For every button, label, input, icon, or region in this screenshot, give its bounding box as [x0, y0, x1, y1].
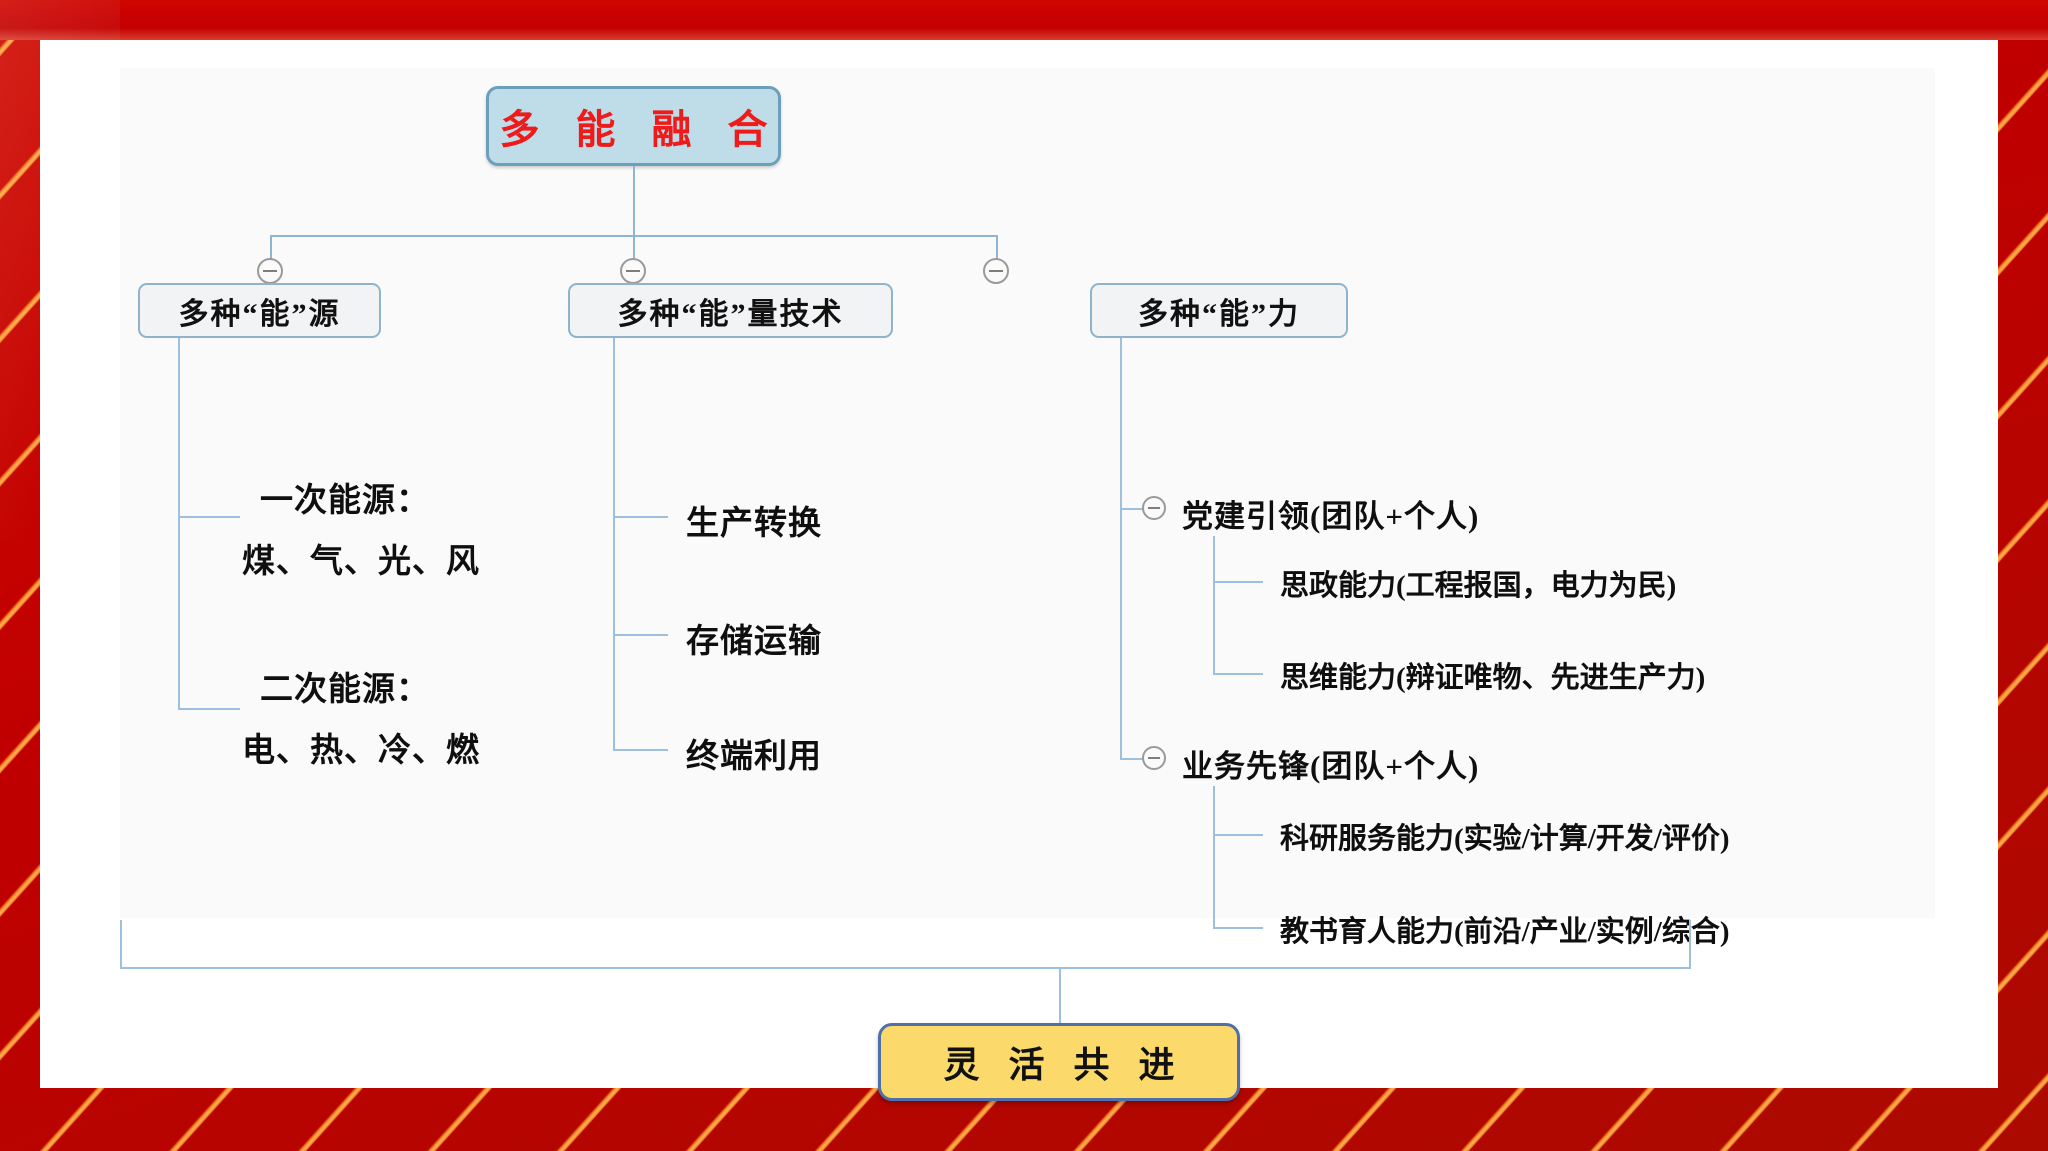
connector-branch2-child2: [613, 634, 668, 636]
connector-branch2-spine: [613, 338, 615, 750]
connector-goal-stem: [1059, 967, 1061, 1025]
connector-branch2-child3: [613, 749, 668, 751]
minus-circle-icon[interactable]: [620, 258, 646, 284]
branch-node-capabilities[interactable]: 多种“能”力: [1090, 283, 1348, 338]
connector-branch3-spine: [1120, 338, 1122, 758]
leaf-primary-energy-items[interactable]: 煤、气、光、风: [242, 534, 480, 582]
leaf-ideological-ability[interactable]: 思政能力(工程报国，电力为民): [1280, 562, 1676, 604]
leaf-research-service-ability[interactable]: 科研服务能力(实验/计算/开发/评价): [1280, 815, 1730, 857]
connector-groupA-child1: [1213, 581, 1263, 583]
connector-goal-left-riser: [120, 920, 122, 968]
branch-node-energy-sources[interactable]: 多种“能”源: [138, 283, 381, 338]
mindmap-panel: 多 能 融 合 多种“能”源 多种“能”量技术 多种“能”力 一次能源： 煤、气…: [120, 68, 1935, 918]
leaf-thinking-ability[interactable]: 思维能力(辩证唯物、先进生产力): [1280, 654, 1705, 696]
leaf-primary-energy-title[interactable]: 一次能源：: [260, 473, 430, 521]
frame-top-band: [0, 0, 2048, 40]
leaf-storage-transport[interactable]: 存储运输: [686, 614, 822, 662]
leaf-terminal-usage[interactable]: 终端利用: [686, 729, 822, 777]
connector-goal-right-riser: [1689, 920, 1691, 968]
connector-groupB-child1: [1213, 834, 1263, 836]
branch-node-energy-tech[interactable]: 多种“能”量技术: [568, 283, 893, 338]
connector-branch1-child2: [178, 708, 240, 710]
connector-groupA-child2: [1213, 673, 1263, 675]
root-node[interactable]: 多 能 融 合: [486, 86, 781, 166]
connector-groupB-spine: [1213, 786, 1215, 928]
connector-branch3-groupB: [1120, 758, 1144, 760]
leaf-secondary-energy-items[interactable]: 电、热、冷、燃: [242, 723, 480, 771]
leaf-business-pioneer[interactable]: 业务先锋(团队+个人): [1182, 741, 1479, 786]
connector-branch1-spine: [178, 338, 180, 710]
leaf-secondary-energy-title[interactable]: 二次能源：: [260, 662, 430, 710]
minus-circle-icon[interactable]: [1142, 496, 1166, 520]
connector-branch1-child1: [178, 516, 240, 518]
leaf-party-leadership[interactable]: 党建引领(团队+个人): [1182, 491, 1479, 536]
connector-branch3-groupA: [1120, 508, 1144, 510]
minus-circle-icon[interactable]: [257, 258, 283, 284]
connector-branch2-child1: [613, 516, 668, 518]
connector-root-stem: [633, 166, 635, 236]
connector-groupB-child2: [1213, 927, 1263, 929]
leaf-production-conversion[interactable]: 生产转换: [686, 496, 822, 544]
connector-goal-bar: [120, 967, 1691, 969]
minus-circle-icon[interactable]: [983, 258, 1009, 284]
connector-groupA-spine: [1213, 536, 1215, 674]
goal-node[interactable]: 灵 活 共 进: [878, 1023, 1240, 1101]
minus-circle-icon[interactable]: [1142, 746, 1166, 770]
leaf-teaching-ability[interactable]: 教书育人能力(前沿/产业/实例/综合): [1280, 908, 1730, 950]
slide-canvas: 多 能 融 合 多种“能”源 多种“能”量技术 多种“能”力 一次能源： 煤、气…: [40, 40, 1998, 1088]
